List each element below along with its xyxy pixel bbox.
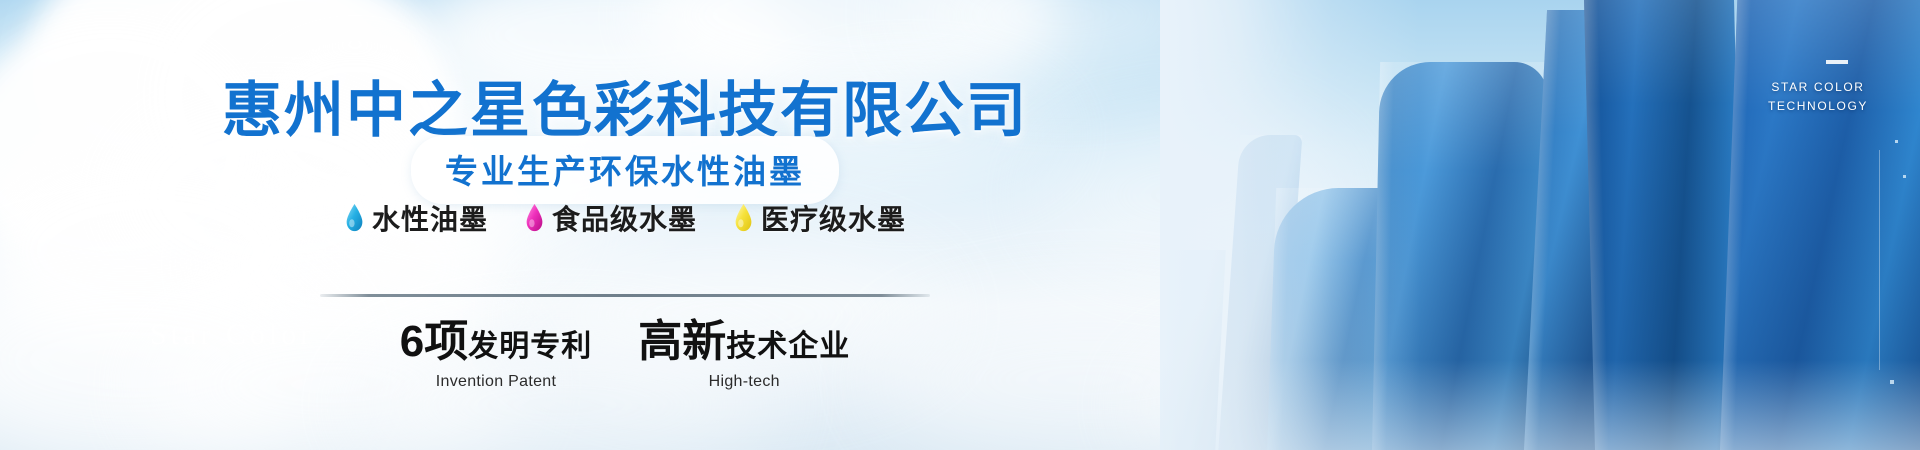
ink-type-label: 水性油墨 bbox=[372, 198, 488, 238]
credential-badge-list: 6项 发明专利 Invention Patent 高新 技术企业 High-te… bbox=[0, 320, 1250, 391]
brand-mark: STAR COLOR TECHNOLOGY bbox=[1768, 78, 1868, 115]
credential-badge-highlight: 高新 bbox=[638, 320, 726, 364]
water-drop-icon bbox=[524, 203, 545, 233]
water-drop-icon bbox=[733, 203, 754, 233]
credential-badge-en: Invention Patent bbox=[400, 373, 592, 391]
glass-highlight-dot bbox=[1903, 175, 1906, 178]
credential-badge-en: High-tech bbox=[638, 373, 850, 391]
ink-type-item-medical-grade: 医疗级水墨 bbox=[733, 198, 906, 238]
credential-badge-highlight: 6项 bbox=[400, 320, 468, 364]
credential-badge-cn: 高新 技术企业 bbox=[638, 320, 850, 364]
brand-mark-dash bbox=[1826, 60, 1848, 64]
building-d bbox=[1372, 62, 1548, 450]
water-drop-icon bbox=[344, 203, 365, 233]
glass-highlight-dot bbox=[1895, 140, 1898, 143]
subtitle-container: 专业生产环保水性油墨 bbox=[0, 136, 1250, 204]
brand-mark-line1: STAR COLOR bbox=[1768, 78, 1868, 97]
credential-badge-text: 技术企业 bbox=[726, 332, 850, 362]
credential-badge-text: 发明专利 bbox=[468, 332, 592, 362]
ink-type-label: 食品级水墨 bbox=[552, 198, 697, 238]
credential-badge-patent: 6项 发明专利 Invention Patent bbox=[400, 320, 592, 391]
glass-highlight-dot bbox=[1890, 380, 1894, 384]
subtitle-pill: 专业生产环保水性油墨 bbox=[411, 136, 839, 204]
section-divider bbox=[320, 294, 930, 297]
credential-badge-cn: 6项 发明专利 bbox=[400, 320, 592, 364]
glass-accent-line bbox=[1879, 150, 1880, 370]
promotional-banner: Star Color STAR COLOR TECHNOLOGY 惠州中之星色彩… bbox=[0, 0, 1920, 450]
banner-content: 惠州中之星色彩科技有限公司 专业生产环保水性油墨 水性油 bbox=[0, 0, 1250, 450]
ink-type-list: 水性油墨 食品级水墨 bbox=[0, 198, 1250, 238]
brand-mark-line2: TECHNOLOGY bbox=[1768, 97, 1868, 116]
credential-badge-hightech: 高新 技术企业 High-tech bbox=[638, 320, 850, 391]
ink-type-label: 医疗级水墨 bbox=[761, 198, 906, 238]
building-b bbox=[1583, 0, 1745, 450]
ink-type-item-water-based: 水性油墨 bbox=[344, 198, 488, 238]
ink-type-item-food-grade: 食品级水墨 bbox=[524, 198, 697, 238]
city-skyline-photo: STAR COLOR TECHNOLOGY bbox=[1160, 0, 1920, 450]
